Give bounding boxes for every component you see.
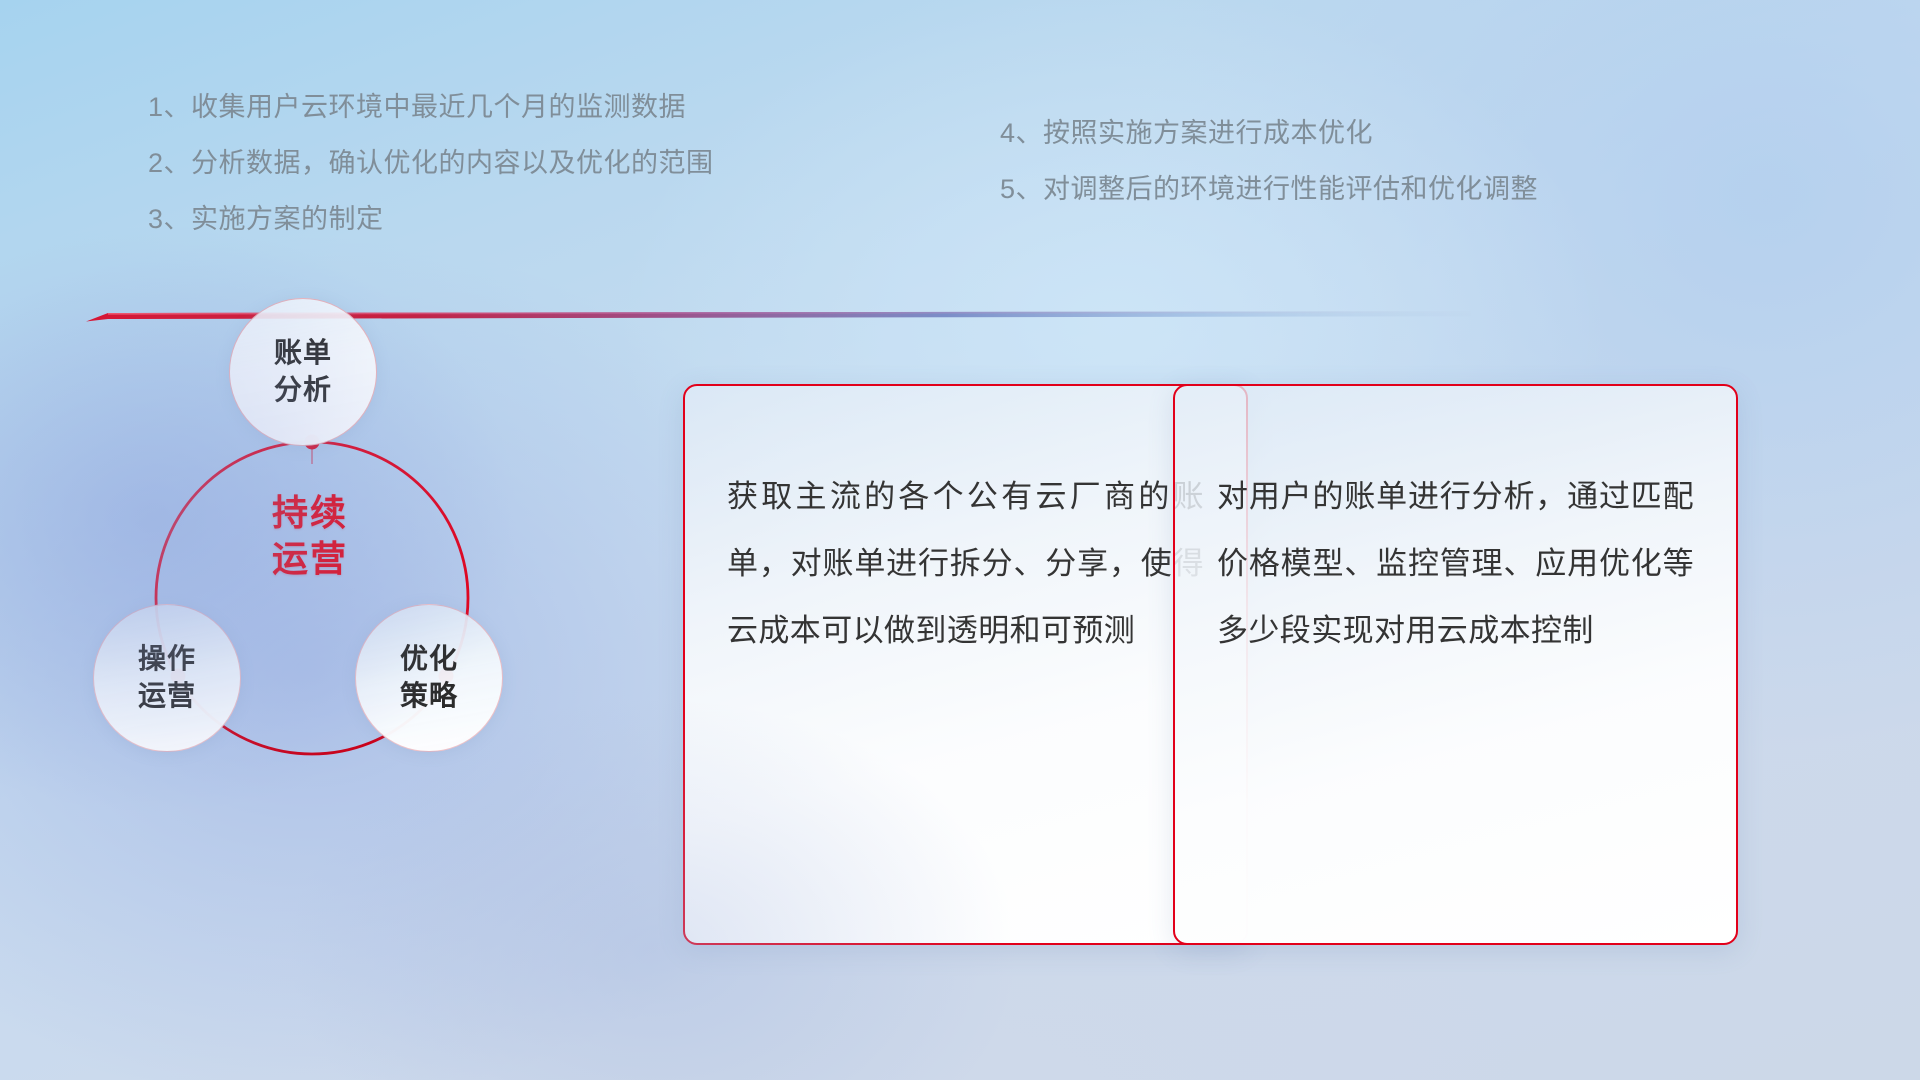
slide-canvas: 1、收集用户云环境中最近几个月的监测数据 2、分析数据，确认优化的内容以及优化的… [0,0,1920,1080]
feature-card-multicloud-billing[interactable]: 获取主流的各个公有云厂商的账单，对账单进行拆分、分享，使得云成本可以做到透明和可… [683,384,1248,945]
steps-left-column: 1、收集用户云环境中最近几个月的监测数据 2、分析数据，确认优化的内容以及优化的… [148,94,714,262]
step-item: 3、实施方案的制定 [148,206,714,233]
diagram-node-optimization-strategy[interactable]: 优化 策略 [355,604,503,752]
step-item: 4、按照实施方案进行成本优化 [1000,120,1538,147]
center-label-line2: 运营 [230,536,390,582]
node-label-line1: 操作 [138,641,196,678]
step-item: 1、收集用户云环境中最近几个月的监测数据 [148,94,714,121]
diagram-node-bill-analysis[interactable]: 账单 分析 [229,298,377,446]
steps-right-column: 4、按照实施方案进行成本优化 5、对调整后的环境进行性能评估和优化调整 [1000,120,1538,232]
card-description: 获取主流的各个公有云厂商的账单，对账单进行拆分、分享，使得云成本可以做到透明和可… [727,464,1204,665]
node-label-line1: 优化 [400,641,458,678]
node-label-line2: 分析 [274,372,332,409]
node-label-line2: 运营 [138,678,196,715]
center-label-line1: 持续 [230,490,390,536]
diagram-center-label: 持续 运营 [230,490,390,582]
card-description: 对用户的账单进行分析，通过匹配价格模型、监控管理、应用优化等多少段实现对用云成本… [1217,464,1694,665]
step-item: 2、分析数据，确认优化的内容以及优化的范围 [148,150,714,177]
diagram-node-operations[interactable]: 操作 运营 [93,604,241,752]
step-item: 5、对调整后的环境进行性能评估和优化调整 [1000,176,1538,203]
node-label-line1: 账单 [274,335,332,372]
feature-card-cloud-cost-optimization[interactable]: 对用户的账单进行分析，通过匹配价格模型、监控管理、应用优化等多少段实现对用云成本… [1173,384,1738,945]
node-label-line2: 策略 [400,678,458,715]
